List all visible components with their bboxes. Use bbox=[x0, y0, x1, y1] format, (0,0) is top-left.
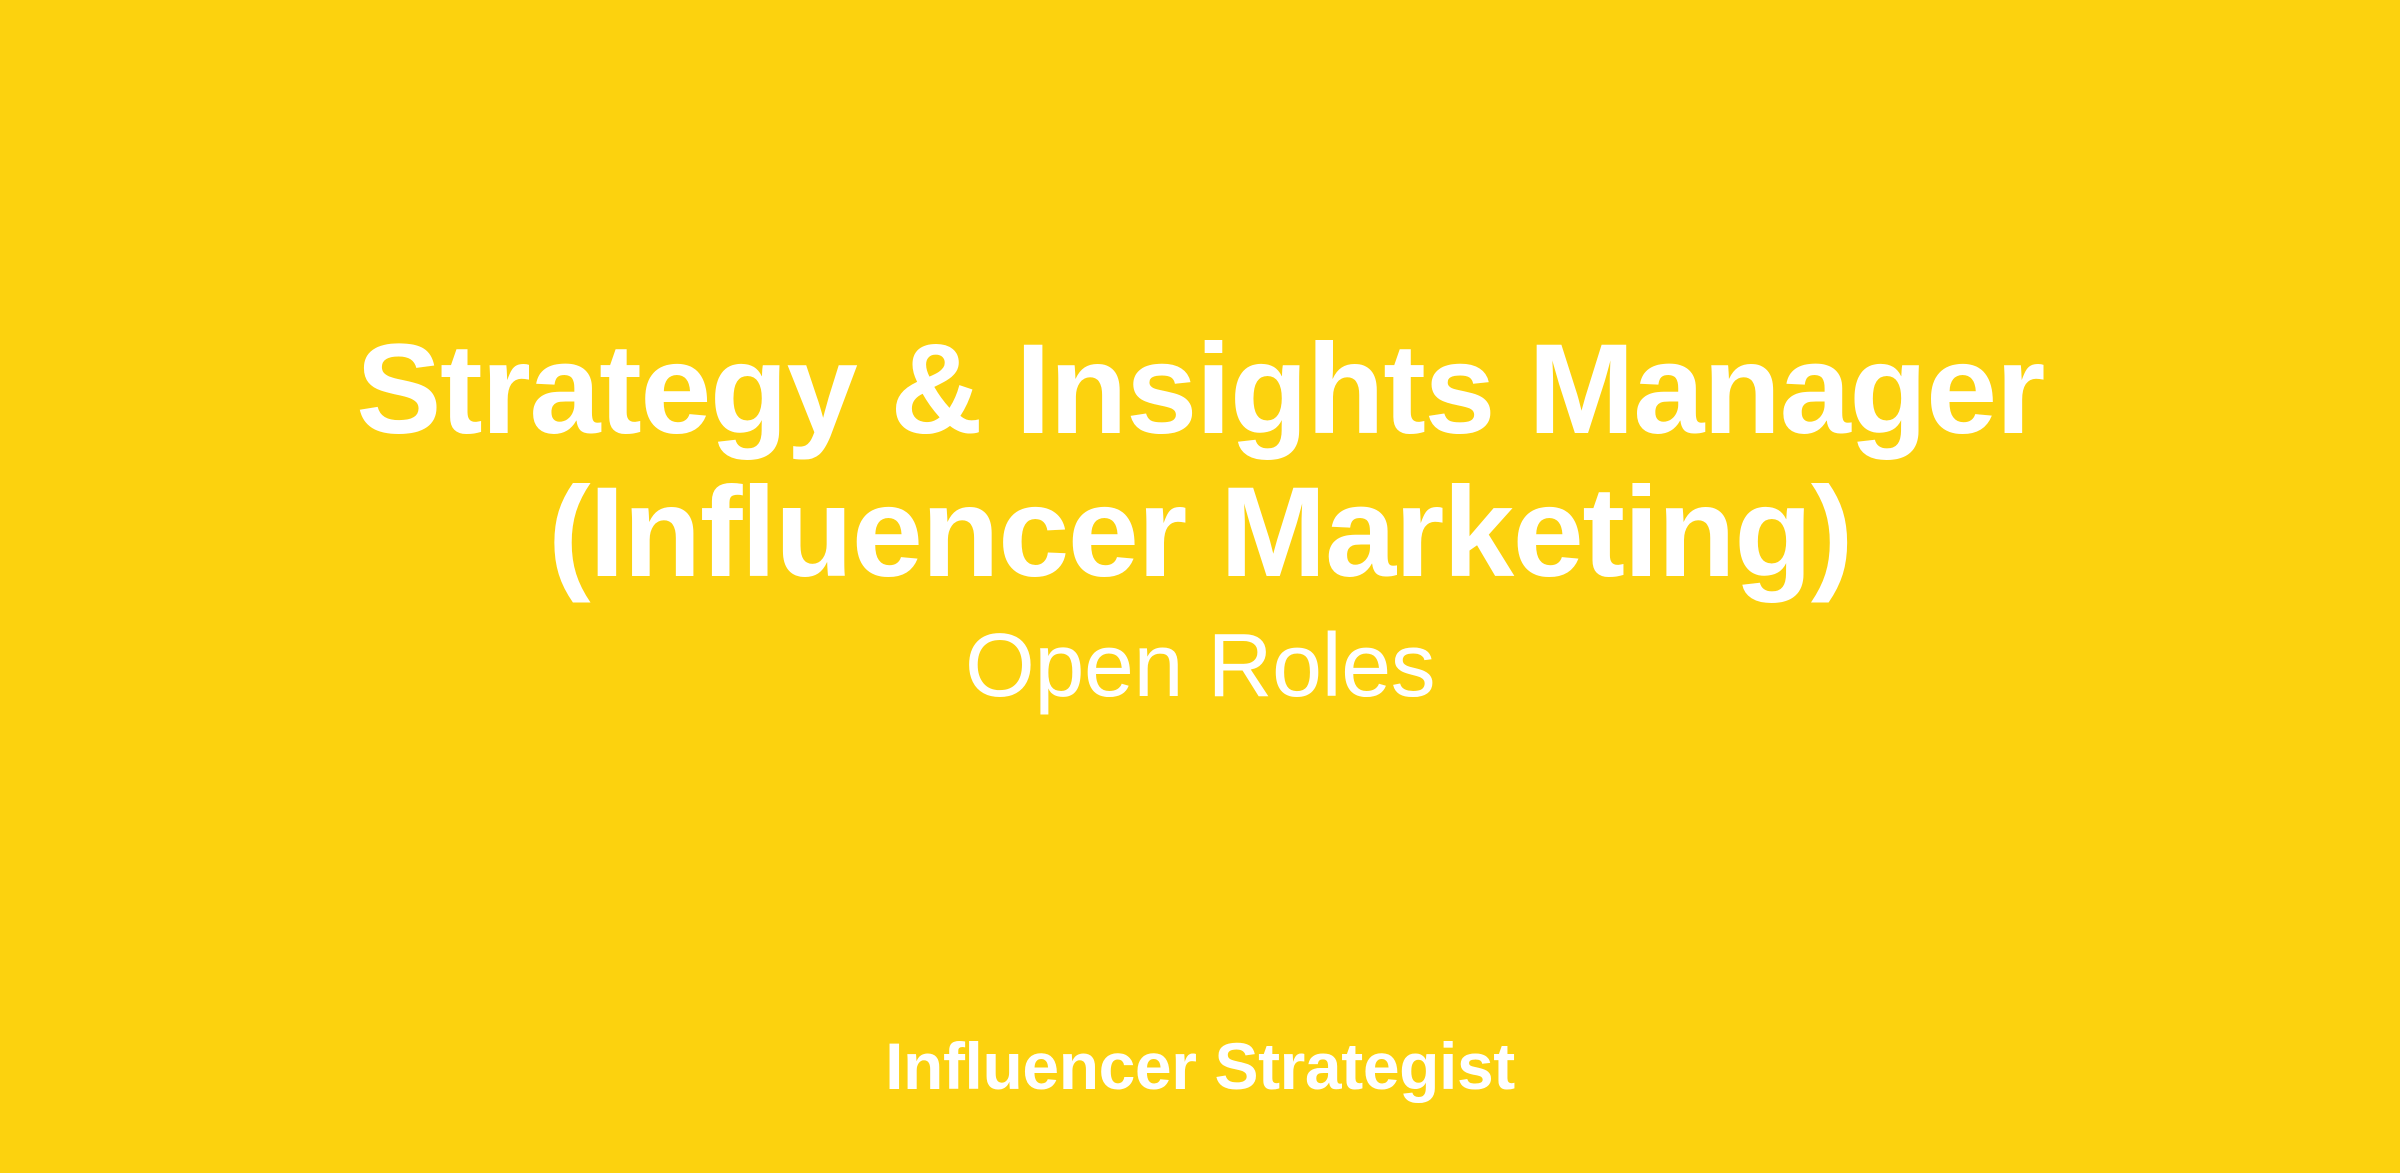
page-subtitle: Open Roles bbox=[965, 617, 1435, 716]
role-label: Influencer Strategist bbox=[885, 1030, 1515, 1103]
page-title: Strategy & Insights Manager (Influencer … bbox=[356, 318, 2044, 605]
hero-block: Strategy & Insights Manager (Influencer … bbox=[0, 318, 2400, 716]
slide-canvas: Strategy & Insights Manager (Influencer … bbox=[0, 0, 2400, 1173]
role-block: Influencer Strategist bbox=[0, 1030, 2400, 1103]
